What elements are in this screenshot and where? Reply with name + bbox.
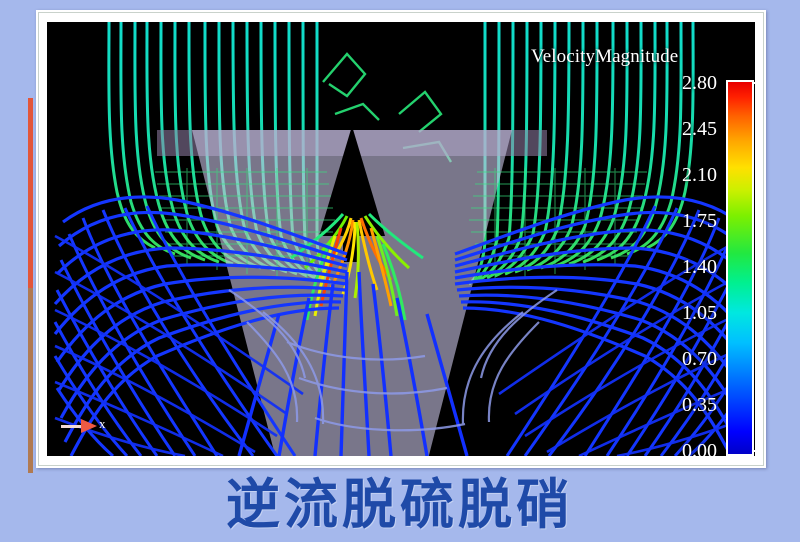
tan-edge-strip <box>28 288 33 473</box>
colorbar[interactable]: 2.74 0.00 <box>726 66 755 456</box>
colorbar-tick-7: 0.35 <box>682 394 717 417</box>
colorbar-tick-2: 2.10 <box>682 164 717 187</box>
slide-root: VelocityMagnitude 2.80 2.45 2.10 1.75 1.… <box>0 0 800 542</box>
orientation-axis-widget: x <box>61 414 119 440</box>
cfd-render-canvas: VelocityMagnitude 2.80 2.45 2.10 1.75 1.… <box>47 22 755 456</box>
red-edge-strip <box>28 98 33 288</box>
colorbar-tick-1: 2.45 <box>682 118 717 141</box>
colorbar-tick-8: 0.00 <box>682 440 717 456</box>
axis-arrow-head-icon <box>81 419 97 433</box>
colorbar-title: VelocityMagnitude <box>531 46 678 68</box>
colorbar-gradient <box>726 80 754 456</box>
axis-label-x: x <box>99 416 106 432</box>
colorbar-tick-3: 1.75 <box>682 210 717 233</box>
colorbar-tick-5: 1.05 <box>682 302 717 325</box>
colorbar-max-tick <box>752 82 755 84</box>
colorbar-tick-labels: 2.80 2.45 2.10 1.75 1.40 1.05 0.70 0.35 … <box>635 66 717 456</box>
slide-caption: 逆流脱硫脱硝 <box>0 474 800 536</box>
colorbar-min-tick <box>752 450 755 452</box>
colorbar-tick-4: 1.40 <box>682 256 717 279</box>
colorbar-tick-0: 2.80 <box>682 72 717 95</box>
colorbar-tick-6: 0.70 <box>682 348 717 371</box>
figure-frame: VelocityMagnitude 2.80 2.45 2.10 1.75 1.… <box>36 10 766 468</box>
